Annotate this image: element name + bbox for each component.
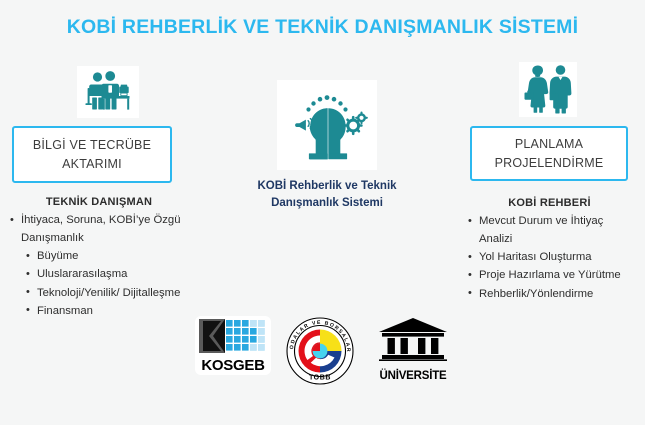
list-teknik-danisman: İhtiyaca, Soruna, KOBİ’ye Özgü Danışmanl… [10,212,205,321]
slide-canvas: KOBİ REHBERLİK VE TEKNİK DANIŞMANLIK SİS… [0,0,645,425]
list-item: Mevcut Durum ve İhtiyaç [468,213,643,230]
box-left-line1: BİLGİ VE TECRÜBE [33,138,151,152]
caption-line1: KOBİ Rehberlik ve Teknik [257,180,396,192]
box-right-line1: PLANLAMA [515,137,583,151]
list-item: Rehberlik/Yönlendirme [468,286,643,303]
list-item: Teknoloji/Yenilik/ Dijitalleşme [26,285,205,302]
universite-logo: ÜNİVERSİTE [373,316,453,382]
page-title: KOBİ REHBERLİK VE TEKNİK DANIŞMANLIK SİS… [0,16,645,39]
list-item: Büyüme [26,248,205,265]
list-item: Analizi [468,231,643,248]
column-left [8,66,208,118]
column-middle [232,80,422,170]
list-heading-kobi-rehberi: KOBİ REHBERİ [462,197,637,209]
list-item: Danışmanlık [10,230,205,247]
list-item: Finansman [26,303,205,320]
caption-kobi-rehberlik-sistemi: KOBİ Rehberlik ve Teknik Danışmanlık Sis… [232,178,422,213]
kosgeb-label: KOSGEB [199,357,267,374]
logos-row: KOSGEB TÜRKİYE ODALAR VE BORSALAR BİRLİĞ… [193,316,458,388]
list-item: Uluslararasılaşma [26,266,205,283]
two-people-at-desk-icon [77,66,139,118]
column-right [455,62,640,117]
list-item: Proje Hazırlama ve Yürütme [468,267,643,284]
box-bilgi-ve-tecrube-aktarimi[interactable]: BİLGİ VE TECRÜBE AKTARIMI [12,126,172,183]
box-right-line2: PROJELENDİRME [495,156,604,170]
list-item: İhtiyaca, Soruna, KOBİ’ye Özgü [10,212,205,229]
universite-label: ÜNİVERSİTE [373,370,453,382]
box-left-line2: AKTARIMI [62,157,122,171]
tobb-label: TOBB [309,375,331,382]
kosgeb-logo: KOSGEB [195,316,271,375]
tobb-logo: TÜRKİYE ODALAR VE BORSALAR BİRLİĞİ TOBB [285,316,355,391]
caption-line2: Danışmanlık Sistemi [271,197,383,209]
two-heads-communication-icon [277,80,377,170]
box-planlama-projelendirme[interactable]: PLANLAMA PROJELENDİRME [470,126,628,181]
list-kobi-rehberi: Mevcut Durum ve İhtiyaç Analizi Yol Hari… [468,213,643,304]
two-business-people-icon [519,62,577,117]
kosgeb-mark: KOSGEB [195,316,271,375]
list-heading-teknik-danisman: TEKNİK DANIŞMAN [4,196,194,208]
list-item: Yol Haritası Oluşturma [468,249,643,266]
